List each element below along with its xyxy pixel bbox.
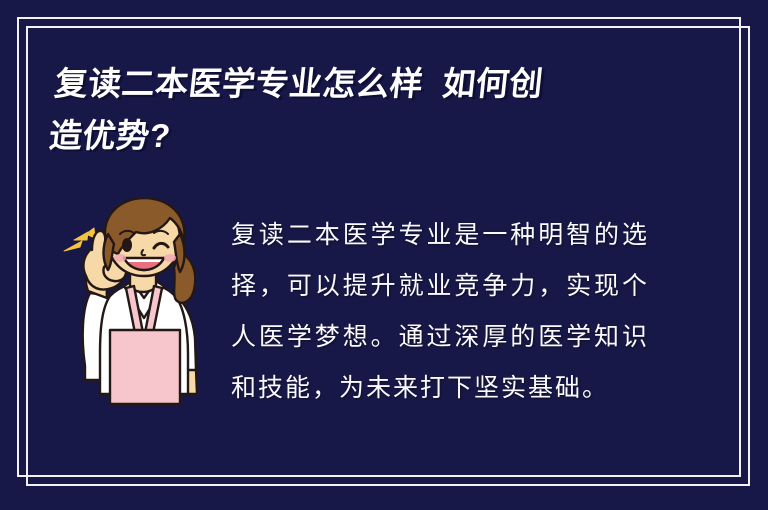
- page-title: 复读二本医学专业怎么样 如何创 造优势?: [47, 58, 698, 162]
- poster-canvas: 复读二本医学专业怎么样 如何创 造优势?: [0, 0, 768, 510]
- body-paragraph: 复读二本医学专业是一种明智的选择，可以提升就业竞争力，实现个人医学梦想。通过深厚…: [231, 209, 649, 413]
- cartoon-woman-ok-gesture-illustration: [52, 198, 232, 410]
- sparkle-icon: [64, 228, 95, 251]
